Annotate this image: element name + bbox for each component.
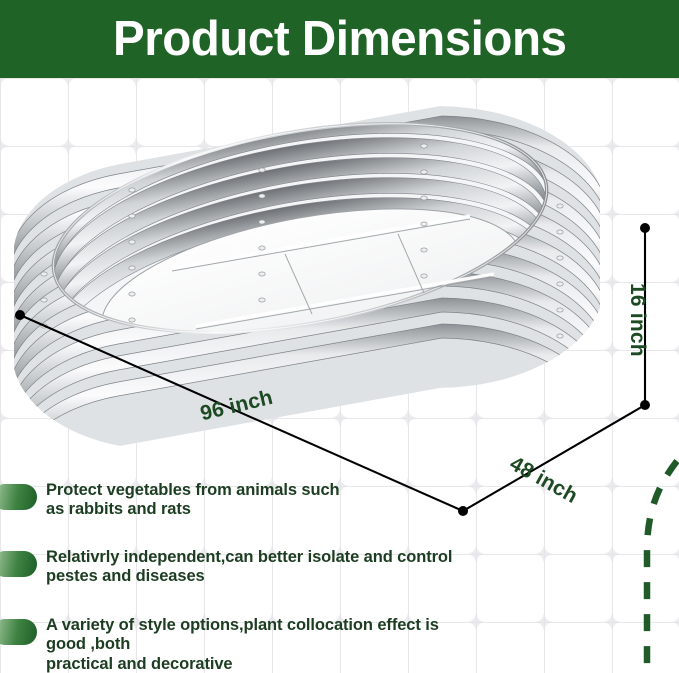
feature-item: A variety of style options,plant colloca… (0, 616, 476, 673)
feature-text: A variety of style options,plant colloca… (46, 616, 476, 673)
feature-text: Protect vegetables from animals such as … (46, 481, 340, 520)
page-title: Product Dimensions (113, 15, 566, 64)
pill-bullet-icon (0, 551, 37, 577)
raised-garden-bed-graphic (0, 78, 679, 518)
pill-bullet-icon (0, 484, 37, 510)
feature-list: Protect vegetables from animals such as … (0, 470, 679, 673)
product-illustration (0, 78, 679, 518)
feature-text: Relativrly independent,can better isolat… (46, 548, 452, 587)
product-dimensions-infographic: Product Dimensions (0, 0, 679, 673)
feature-item: Protect vegetables from animals such as … (0, 481, 340, 520)
pill-bullet-icon (0, 619, 37, 645)
feature-item: Relativrly independent,can better isolat… (0, 548, 452, 587)
header-banner: Product Dimensions (0, 0, 679, 78)
